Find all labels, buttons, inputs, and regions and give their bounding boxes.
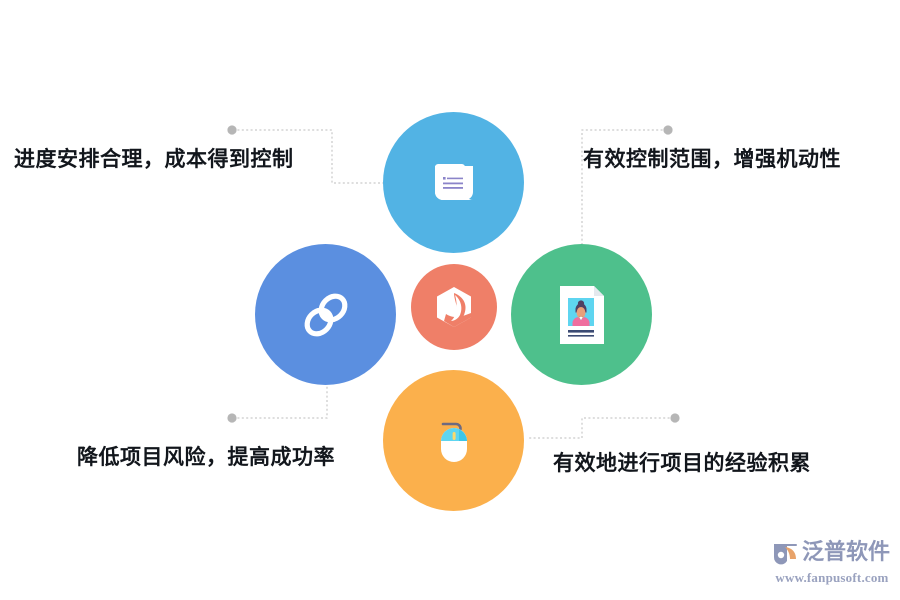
logo-row: 泛普软件: [770, 537, 894, 569]
node-risk-reduction[interactable]: [255, 244, 396, 385]
label-top-right: 有效控制范围，增强机动性: [583, 148, 841, 171]
id-card-icon: [554, 282, 610, 348]
connector-bottom-right: [529, 413, 680, 438]
label-top-left: 进度安排合理，成本得到控制: [14, 148, 294, 171]
node-core-hub[interactable]: [411, 264, 497, 350]
infographic-canvas: 进度安排合理，成本得到控制 有效控制范围，增强机动性 降低项目风险，提高成功率 …: [0, 0, 900, 600]
node-scope-control[interactable]: [511, 244, 652, 385]
logo-url: www.fanpusoft.com: [770, 570, 894, 586]
hexagon-leaf-logo-icon: [430, 283, 478, 331]
chain-link-icon: [295, 284, 357, 346]
connector-bottom-left: [227, 386, 327, 423]
logo-brand-name: 泛普软件: [802, 538, 890, 568]
brand-logo: 泛普软件 www.fanpusoft.com: [770, 537, 894, 587]
computer-mouse-icon: [423, 410, 485, 472]
node-experience-accumulation[interactable]: [383, 370, 524, 511]
node-schedule-cost[interactable]: [383, 112, 524, 253]
fanpu-logo-mark-icon: [770, 538, 800, 568]
connector-top-right: [582, 125, 673, 246]
label-bottom-left: 降低项目风险，提高成功率: [77, 446, 335, 469]
scroll-document-icon: [421, 150, 487, 216]
label-bottom-right: 有效地进行项目的经验积累: [553, 452, 811, 475]
